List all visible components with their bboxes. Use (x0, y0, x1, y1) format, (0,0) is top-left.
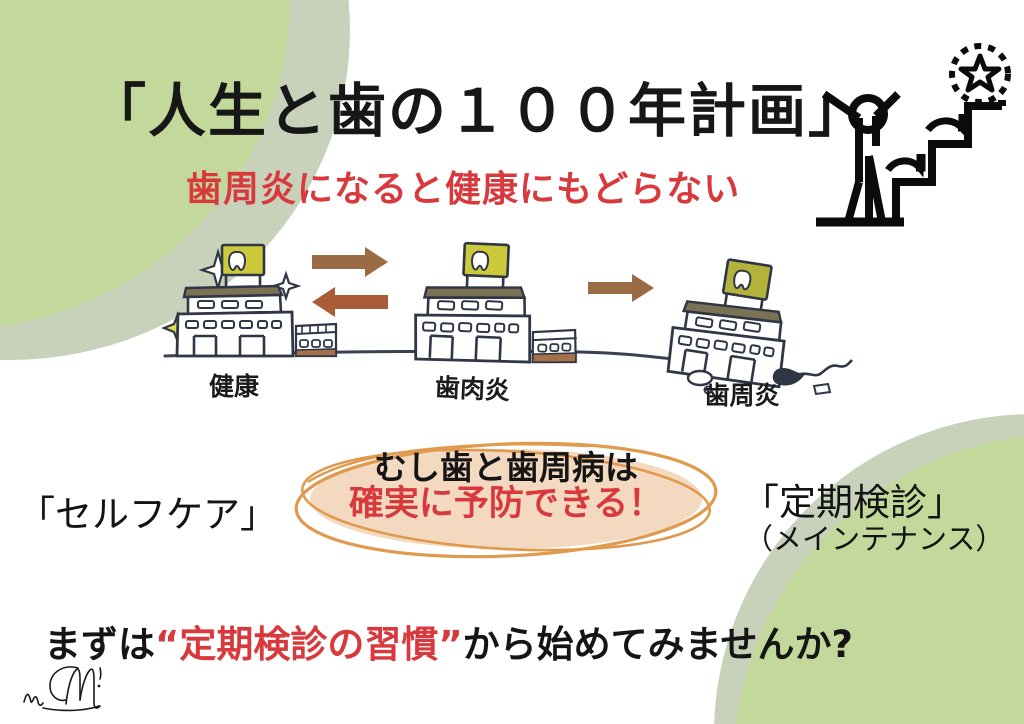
arrow-right-gingivitis-to-periodontitis (588, 274, 654, 302)
building-periodontitis-icon (666, 252, 797, 388)
page-title: 「人生と歯の１００年計画」 (88, 82, 828, 140)
callout-line-1: むし歯と歯周病は (288, 450, 724, 486)
page-subtitle: 歯周炎になると健康にもどらない (186, 172, 806, 208)
svg-text:健康: 健康 (209, 372, 260, 401)
cta-suffix: から始めてみませんか? (463, 623, 853, 666)
building-gingivitis-icon: 歯肉炎 (412, 241, 581, 408)
person-climbing-stairs-icon (812, 36, 1018, 232)
call-to-action: まずは“定期検診の習慣”から始めてみませんか? (44, 614, 853, 668)
progression-illustration: 健康 (160, 238, 860, 428)
key-message-callout: むし歯と歯周病は 確実に予防できる！ (288, 438, 724, 562)
label-selfcare: 「セルフケア」 (18, 484, 277, 538)
callout-line-2: 確実に予防できる！ (288, 486, 724, 524)
label-maintenance: （メインテナンス） (744, 523, 1004, 555)
svg-text:歯周炎: 歯周炎 (704, 381, 779, 410)
handwritten-signature (16, 658, 136, 720)
building-healthy-icon: 健康 (164, 245, 336, 401)
corner-decoration-bottom-right-pale (714, 414, 1024, 724)
cta-emphasis: “定期検診の習慣” (155, 623, 463, 666)
label-checkup: 「定期検診」 (742, 482, 1004, 523)
arrow-left-gingivitis-to-health (312, 287, 388, 317)
svg-text:歯肉炎: 歯肉炎 (434, 373, 510, 405)
corner-decoration-bottom-right-bright (734, 434, 1024, 724)
label-checkup-block: 「定期検診」 （メインテナンス） (742, 482, 1004, 556)
poster-canvas: 「人生と歯の１００年計画」 歯周炎になると健康にもどらない (0, 0, 1024, 724)
arrow-right-health-to-gingivitis (312, 247, 388, 277)
callout-text: むし歯と歯周病は 確実に予防できる！ (288, 450, 724, 523)
